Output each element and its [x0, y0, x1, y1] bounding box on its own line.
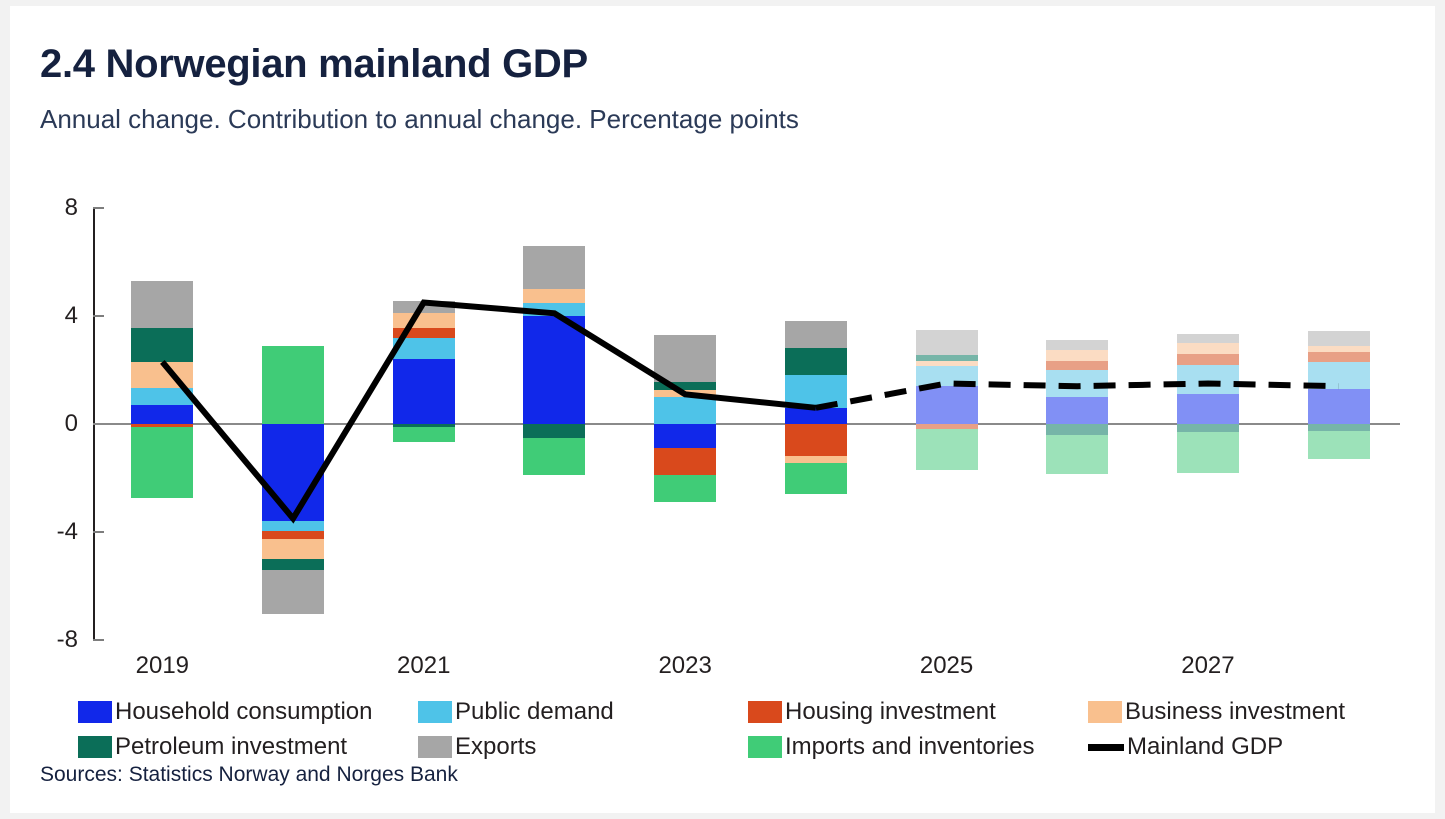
bar-segment-exports — [1308, 331, 1370, 346]
bar-segment-exports — [523, 246, 585, 289]
bar-segment-imports — [1046, 435, 1108, 474]
bar-segment-household — [654, 424, 716, 448]
legend-line-swatch — [1088, 744, 1124, 751]
bar-segment-petroleum — [523, 424, 585, 438]
bar-segment-public — [785, 375, 847, 407]
bar-segment-housing — [654, 448, 716, 475]
y-axis-tick-label: -8 — [32, 626, 78, 654]
x-axis-tick-label: 2023 — [625, 652, 745, 680]
chart-canvas: 2.4 Norwegian mainland GDP Annual change… — [0, 0, 1445, 819]
y-axis-tick — [93, 207, 104, 209]
y-axis-tick — [93, 639, 104, 641]
bar-segment-petroleum — [916, 355, 978, 360]
bar-segment-exports — [785, 321, 847, 348]
bar-segment-business — [262, 539, 324, 559]
bar-segment-public — [393, 338, 455, 360]
bar-segment-housing — [1308, 352, 1370, 361]
bar-segment-exports — [131, 281, 193, 328]
bar-group[interactable] — [131, 208, 193, 640]
legend-item-exports[interactable]: Exports — [418, 733, 536, 761]
legend-item-household[interactable]: Household consumption — [78, 698, 373, 726]
legend-label: Housing investment — [785, 698, 996, 726]
y-axis-tick-label: 0 — [32, 410, 78, 438]
x-axis-tick-label: 2025 — [887, 652, 1007, 680]
bar-segment-household — [1308, 389, 1370, 424]
bar-segment-household — [785, 408, 847, 424]
bar-segment-public — [1308, 362, 1370, 389]
bar-group[interactable] — [916, 208, 978, 640]
bar-segment-exports — [1046, 340, 1108, 349]
bar-segment-public — [131, 388, 193, 406]
legend-label: Mainland GDP — [1127, 733, 1283, 761]
bar-segment-petroleum — [262, 559, 324, 570]
bar-segment-housing — [262, 531, 324, 539]
legend-color-swatch-petroleum — [78, 736, 112, 758]
legend-color-swatch-housing — [748, 701, 782, 723]
legend-item-imports[interactable]: Imports and inventories — [748, 733, 1034, 761]
bar-segment-exports — [393, 301, 455, 313]
bar-group[interactable] — [262, 208, 324, 640]
legend-color-swatch-exports — [418, 736, 452, 758]
bar-segment-housing — [1046, 361, 1108, 370]
bar-segment-business — [916, 361, 978, 366]
bar-segment-housing — [1177, 354, 1239, 365]
bar-group[interactable] — [654, 208, 716, 640]
bar-segment-public — [262, 521, 324, 530]
bar-segment-household — [131, 405, 193, 424]
legend-label: Petroleum investment — [115, 733, 347, 761]
bar-segment-business — [785, 456, 847, 463]
bar-group[interactable] — [393, 208, 455, 640]
legend-item-business[interactable]: Business investment — [1088, 698, 1345, 726]
y-axis-tick-label: 8 — [32, 194, 78, 222]
bar-segment-petroleum — [1308, 424, 1370, 431]
legend-item-housing[interactable]: Housing investment — [748, 698, 996, 726]
plot-area: 840-4-820192021202320252027 — [0, 0, 1445, 819]
bar-segment-business — [1308, 346, 1370, 353]
bar-segment-household — [916, 386, 978, 424]
y-axis-tick-label: 4 — [32, 302, 78, 330]
bar-segment-imports — [262, 346, 324, 424]
bar-segment-household — [262, 424, 324, 521]
bar-segment-imports — [785, 463, 847, 494]
bar-group[interactable] — [785, 208, 847, 640]
legend-item-gdp_line[interactable]: Mainland GDP — [1088, 733, 1283, 761]
bar-segment-household — [1046, 397, 1108, 424]
bar-segment-business — [654, 390, 716, 397]
bar-segment-business — [393, 313, 455, 328]
bar-segment-imports — [131, 427, 193, 499]
bar-segment-public — [654, 397, 716, 424]
legend-label: Imports and inventories — [785, 733, 1034, 761]
bar-segment-public — [523, 303, 585, 317]
legend-label: Public demand — [455, 698, 614, 726]
source-note: Sources: Statistics Norway and Norges Ba… — [40, 763, 458, 787]
legend-item-public[interactable]: Public demand — [418, 698, 614, 726]
bar-segment-imports — [1177, 432, 1239, 473]
bar-group[interactable] — [1308, 208, 1370, 640]
y-axis-tick — [93, 531, 104, 533]
legend-label: Household consumption — [115, 698, 373, 726]
bar-segment-household — [393, 359, 455, 424]
bar-segment-household — [523, 316, 585, 424]
bar-segment-public — [1046, 370, 1108, 397]
bar-segment-exports — [262, 570, 324, 615]
bar-group[interactable] — [1046, 208, 1108, 640]
bar-segment-public — [916, 366, 978, 386]
x-axis-tick-label: 2027 — [1148, 652, 1268, 680]
x-axis-tick-label: 2021 — [364, 652, 484, 680]
bar-segment-business — [131, 362, 193, 388]
legend-color-swatch-imports — [748, 736, 782, 758]
bar-segment-imports — [654, 475, 716, 502]
legend-label: Business investment — [1125, 698, 1345, 726]
bar-segment-petroleum — [1177, 424, 1239, 432]
bar-segment-housing — [393, 328, 455, 337]
legend-label: Exports — [455, 733, 536, 761]
bar-segment-petroleum — [1046, 424, 1108, 435]
bar-segment-imports — [523, 438, 585, 476]
y-axis-tick-label: -4 — [32, 518, 78, 546]
bar-segment-petroleum — [654, 382, 716, 390]
bar-segment-exports — [654, 335, 716, 382]
bar-segment-imports — [393, 427, 455, 442]
bar-segment-imports — [916, 429, 978, 470]
x-axis-tick-label: 2019 — [102, 652, 222, 680]
bar-segment-business — [1046, 350, 1108, 361]
legend-color-swatch-business — [1088, 701, 1122, 723]
bar-segment-exports — [1177, 334, 1239, 343]
legend-color-swatch-household — [78, 701, 112, 723]
bar-segment-business — [523, 289, 585, 303]
legend-item-petroleum[interactable]: Petroleum investment — [78, 733, 347, 761]
bar-group[interactable] — [523, 208, 585, 640]
bar-segment-imports — [1308, 431, 1370, 459]
legend-color-swatch-public — [418, 701, 452, 723]
bar-group[interactable] — [1177, 208, 1239, 640]
bar-segment-public — [1177, 365, 1239, 395]
y-axis-tick — [93, 315, 104, 317]
bar-segment-exports — [916, 330, 978, 356]
bar-segment-business — [1177, 343, 1239, 354]
bar-segment-household — [1177, 394, 1239, 424]
bar-segment-petroleum — [785, 348, 847, 375]
bar-segment-petroleum — [131, 328, 193, 362]
bar-segment-housing — [785, 424, 847, 456]
